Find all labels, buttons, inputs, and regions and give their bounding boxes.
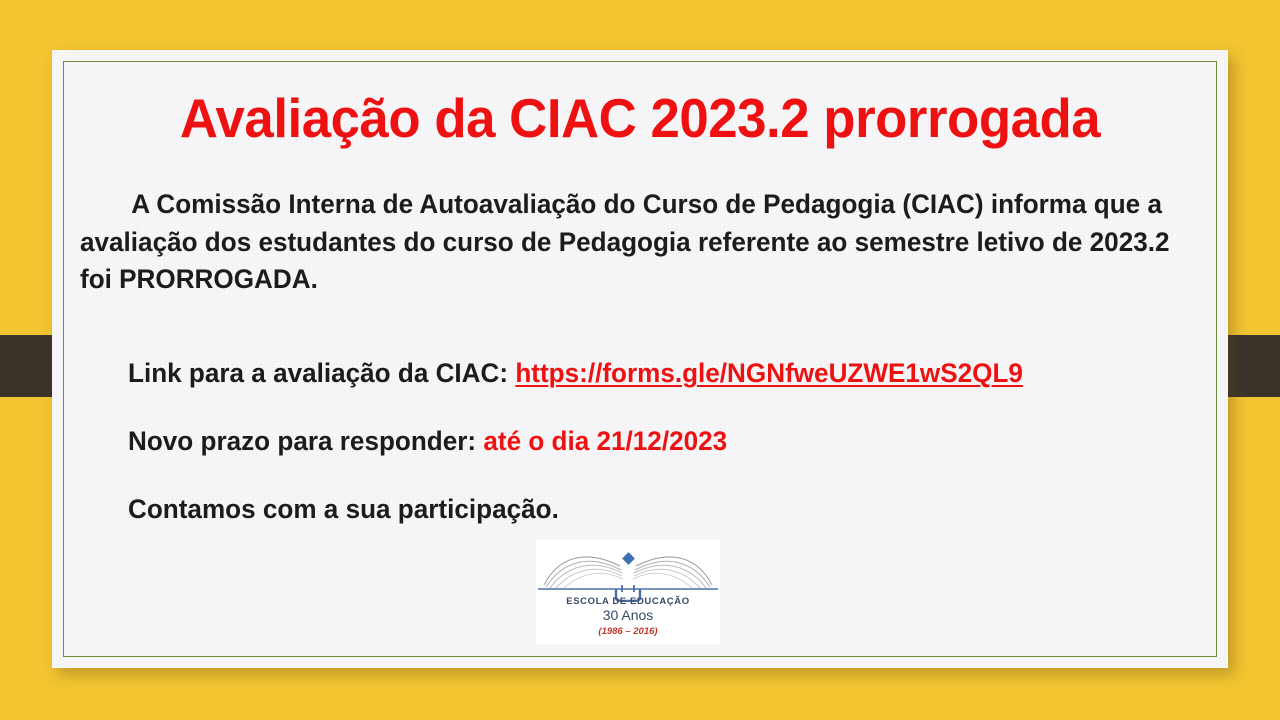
- logo-text-block: ESCOLA DE EDUCAÇÃO 30 Anos (1986 – 2016): [536, 597, 720, 637]
- escola-de-educacao-logo: ESCOLA DE EDUCAÇÃO 30 Anos (1986 – 2016): [536, 540, 720, 644]
- logo-line-1: ESCOLA DE EDUCAÇÃO: [536, 597, 720, 607]
- body-paragraph: A Comissão Interna de Autoavaliação do C…: [80, 186, 1187, 299]
- slide-title: Avaliação da CIAC 2023.2 prorrogada: [76, 90, 1205, 148]
- deadline-label: Novo prazo para responder:: [128, 426, 483, 456]
- closing-line: Contamos com a sua participação.: [128, 494, 559, 525]
- slide-content: Avaliação da CIAC 2023.2 prorrogada A Co…: [52, 50, 1228, 668]
- slide-canvas: Avaliação da CIAC 2023.2 prorrogada A Co…: [0, 0, 1280, 720]
- link-line-label: Link para a avaliação da CIAC:: [128, 358, 515, 388]
- open-book-icon: [536, 540, 720, 602]
- slide-card: Avaliação da CIAC 2023.2 prorrogada A Co…: [52, 50, 1228, 668]
- deadline-line: Novo prazo para responder: até o dia 21/…: [128, 426, 727, 457]
- deadline-value: até o dia 21/12/2023: [483, 426, 727, 456]
- link-line: Link para a avaliação da CIAC: https://f…: [128, 358, 1023, 389]
- ciac-form-link[interactable]: https://forms.gle/NGNfweUZWE1wS2QL9: [515, 358, 1023, 388]
- logo-line-3: (1986 – 2016): [536, 627, 720, 637]
- logo-line-2: 30 Anos: [536, 608, 720, 623]
